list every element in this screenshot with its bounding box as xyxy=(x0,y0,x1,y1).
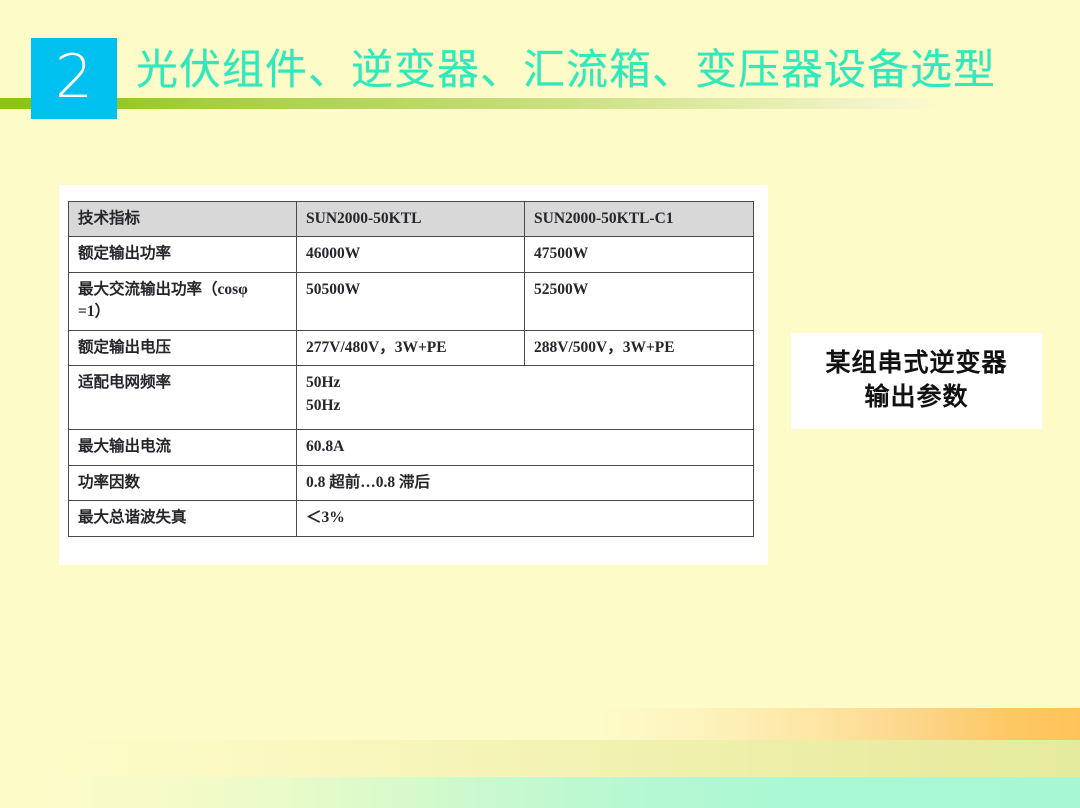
table-col-header-model-2: SUN2000-50KTL-C1 xyxy=(525,202,754,237)
row-value-max-thd: ＜3% xyxy=(297,501,754,536)
row-label-max-ac-output-power-line2: =1） xyxy=(78,301,287,323)
inverter-spec-table: 技术指标 SUN2000-50KTL SUN2000-50KTL-C1 额定输出… xyxy=(68,201,754,537)
table-col-header-metric: 技术指标 xyxy=(69,202,297,237)
row-value-max-output-current: 60.8A xyxy=(297,430,754,465)
row-label-rated-output-voltage: 额定输出电压 xyxy=(69,330,297,365)
header-accent-bar-left-cap xyxy=(0,98,32,109)
caption-box: 某组串式逆变器 输出参数 xyxy=(791,333,1042,429)
row-value-rated-output-power-ktl: 46000W xyxy=(297,237,525,272)
caption-text: 某组串式逆变器 输出参数 xyxy=(825,347,1007,415)
page-title: 光伏组件、逆变器、汇流箱、变压器设备选型 xyxy=(136,36,996,97)
header-accent-bar xyxy=(0,98,940,109)
row-label-max-output-current: 最大输出电流 xyxy=(69,430,297,465)
footer-band-olive xyxy=(0,740,1080,777)
table-row: 最大输出电流 60.8A xyxy=(69,430,754,465)
section-number-badge: 2 xyxy=(31,38,117,119)
row-value-grid-frequency-line1: 50Hz xyxy=(306,372,744,394)
row-label-grid-frequency: 适配电网频率 xyxy=(69,366,297,430)
table-col-header-model-1: SUN2000-50KTL xyxy=(297,202,525,237)
row-label-max-ac-output-power: 最大交流输出功率（cosφ=1） xyxy=(69,272,297,330)
row-value-power-factor: 0.8 超前…0.8 滞后 xyxy=(297,465,754,500)
row-label-rated-output-power: 额定输出功率 xyxy=(69,237,297,272)
row-label-power-factor: 功率因数 xyxy=(69,465,297,500)
row-label-max-ac-output-power-line1: 最大交流输出功率（cosφ xyxy=(78,279,287,301)
row-value-grid-frequency: 50Hz50Hz xyxy=(297,366,754,430)
slide-canvas: 2 光伏组件、逆变器、汇流箱、变压器设备选型 技术指标 SUN2000-50KT… xyxy=(0,0,1080,808)
table-row: 额定输出电压 277V/480V，3W+PE 288V/500V，3W+PE xyxy=(69,330,754,365)
table-row: 最大总谐波失真 ＜3% xyxy=(69,501,754,536)
table-panel: 技术指标 SUN2000-50KTL SUN2000-50KTL-C1 额定输出… xyxy=(59,185,768,565)
table-row: 额定输出功率 46000W 47500W xyxy=(69,237,754,272)
table-row: 最大交流输出功率（cosφ=1） 50500W 52500W xyxy=(69,272,754,330)
section-number-label: 2 xyxy=(55,47,93,111)
table-row: 适配电网频率 50Hz50Hz xyxy=(69,366,754,430)
footer-band-mint xyxy=(0,777,1080,808)
table-row: 功率因数 0.8 超前…0.8 滞后 xyxy=(69,465,754,500)
row-value-max-ac-output-power-ktl: 50500W xyxy=(297,272,525,330)
row-value-max-ac-output-power-ktl-c1: 52500W xyxy=(525,272,754,330)
table-header-row: 技术指标 SUN2000-50KTL SUN2000-50KTL-C1 xyxy=(69,202,754,237)
row-value-rated-output-power-ktl-c1: 47500W xyxy=(525,237,754,272)
footer-band-orange xyxy=(0,708,1080,740)
row-label-max-thd: 最大总谐波失真 xyxy=(69,501,297,536)
row-value-rated-output-voltage-ktl: 277V/480V，3W+PE xyxy=(297,330,525,365)
row-value-rated-output-voltage-ktl-c1: 288V/500V，3W+PE xyxy=(525,330,754,365)
row-value-grid-frequency-line2: 50Hz xyxy=(306,395,744,417)
